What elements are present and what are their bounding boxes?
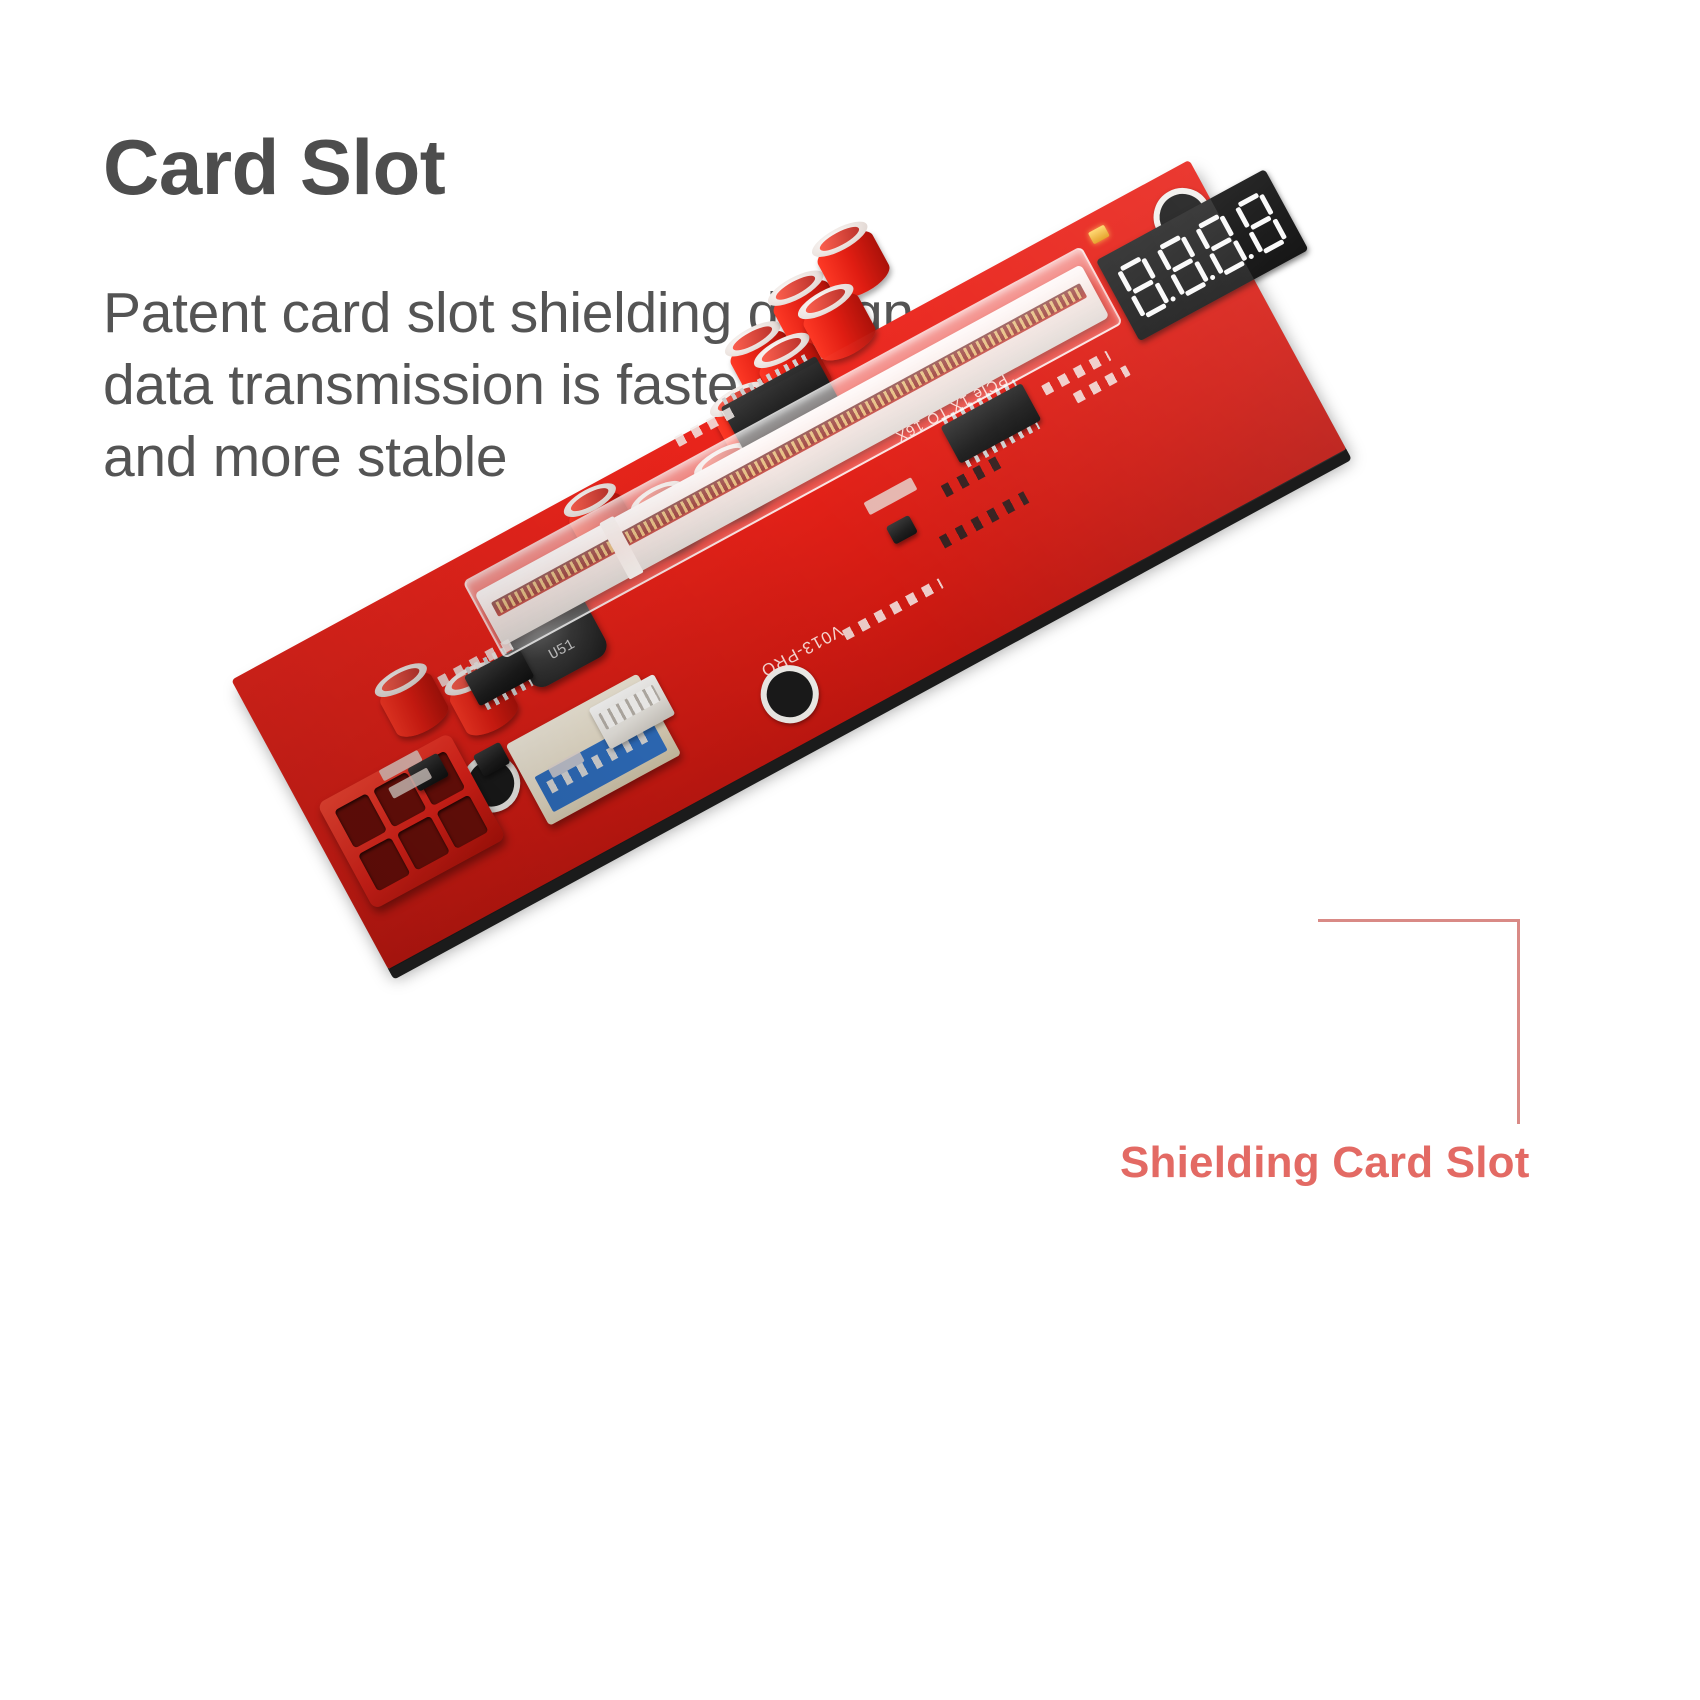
- product-image-pcie-riser-card: U51: [250, 480, 1450, 1490]
- callout-leader-vertical: [1517, 919, 1520, 1124]
- product-feature-slide: Card Slot Patent card slot shielding des…: [0, 0, 1700, 1700]
- page-title: Card Slot: [103, 128, 445, 206]
- callout-label-shielding-card-slot: Shielding Card Slot: [1120, 1138, 1530, 1188]
- callout-leader-horizontal: [1318, 919, 1520, 922]
